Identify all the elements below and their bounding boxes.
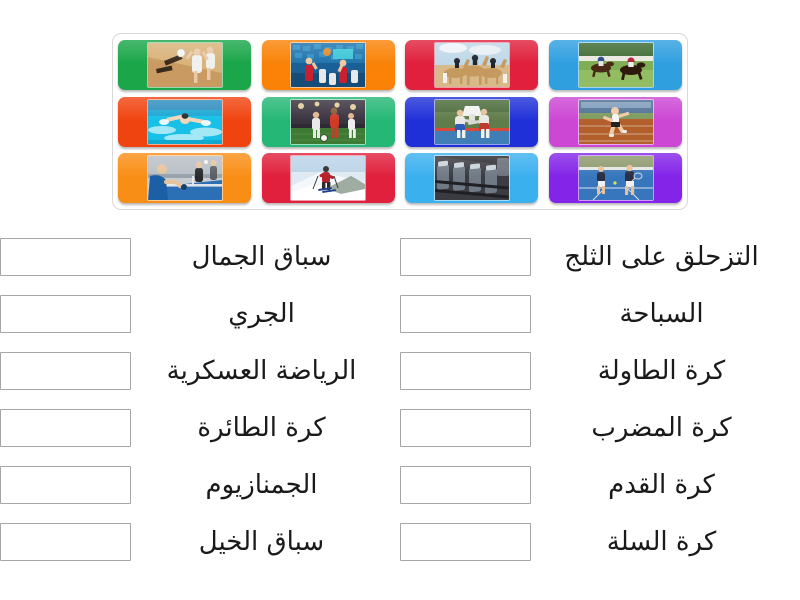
camel-racing-image bbox=[435, 43, 509, 87]
answer-rows: التزحلق على الثلج سباق الجمال السباحة ال… bbox=[0, 228, 800, 570]
draggable-tile-football[interactable] bbox=[262, 97, 395, 147]
answer-pair-left-6: سباق الخيل bbox=[0, 513, 400, 570]
draggable-tile-camel-racing[interactable] bbox=[405, 40, 538, 90]
answer-pair-right-1: التزحلق على الثلج bbox=[400, 228, 800, 285]
volleyball-image bbox=[148, 43, 222, 87]
gym-image bbox=[435, 156, 509, 200]
draggable-tile-skiing[interactable] bbox=[262, 153, 395, 203]
draggable-tile-basketball[interactable] bbox=[262, 40, 395, 90]
answer-label-right-4: كرة المضرب bbox=[531, 413, 792, 443]
answer-pair-left-4: كرة الطائرة bbox=[0, 399, 400, 456]
tile-row-1 bbox=[118, 40, 682, 90]
draggable-tile-taekwondo[interactable] bbox=[405, 97, 538, 147]
answer-pair-right-3: كرة الطاولة bbox=[400, 342, 800, 399]
drop-zone-right-3[interactable] bbox=[400, 352, 531, 390]
answer-label-left-4: كرة الطائرة bbox=[131, 413, 392, 443]
drop-zone-right-2[interactable] bbox=[400, 295, 531, 333]
drop-zone-right-5[interactable] bbox=[400, 466, 531, 504]
answer-row-5: كرة القدم الجمنازيوم bbox=[0, 456, 800, 513]
drop-zone-left-3[interactable] bbox=[0, 352, 131, 390]
draggable-tile-tennis[interactable] bbox=[549, 153, 682, 203]
skiing-image bbox=[291, 156, 365, 200]
answer-label-right-3: كرة الطاولة bbox=[531, 356, 792, 386]
draggable-tile-swimming[interactable] bbox=[118, 97, 251, 147]
answer-label-left-3: الرياضة العسكرية bbox=[131, 356, 392, 386]
drop-zone-left-4[interactable] bbox=[0, 409, 131, 447]
swimming-image bbox=[148, 100, 222, 144]
table-tennis-image bbox=[148, 156, 222, 200]
answer-label-right-2: السباحة bbox=[531, 299, 792, 329]
answer-label-left-6: سباق الخيل bbox=[131, 527, 392, 557]
draggable-tile-running[interactable] bbox=[549, 97, 682, 147]
tile-row-2 bbox=[118, 97, 682, 147]
answer-label-left-2: الجري bbox=[131, 299, 392, 329]
answer-pair-right-4: كرة المضرب bbox=[400, 399, 800, 456]
taekwondo-image bbox=[435, 100, 509, 144]
answer-pair-right-6: كرة السلة bbox=[400, 513, 800, 570]
answer-label-right-6: كرة السلة bbox=[531, 527, 792, 557]
draggable-tile-gym[interactable] bbox=[405, 153, 538, 203]
running-image bbox=[579, 100, 653, 144]
answer-label-left-5: الجمنازيوم bbox=[131, 470, 392, 500]
horse-racing-image bbox=[579, 43, 653, 87]
drop-zone-right-6[interactable] bbox=[400, 523, 531, 561]
draggable-tile-table-tennis[interactable] bbox=[118, 153, 251, 203]
basketball-image bbox=[291, 43, 365, 87]
tile-row-3 bbox=[118, 153, 682, 203]
answer-pair-right-5: كرة القدم bbox=[400, 456, 800, 513]
answer-row-2: السباحة الجري bbox=[0, 285, 800, 342]
answer-label-left-1: سباق الجمال bbox=[131, 242, 392, 272]
answer-pair-left-1: سباق الجمال bbox=[0, 228, 400, 285]
tennis-image bbox=[579, 156, 653, 200]
answer-pair-right-2: السباحة bbox=[400, 285, 800, 342]
draggable-tile-horse-racing[interactable] bbox=[549, 40, 682, 90]
drop-zone-right-4[interactable] bbox=[400, 409, 531, 447]
answer-row-4: كرة المضرب كرة الطائرة bbox=[0, 399, 800, 456]
answer-label-right-5: كرة القدم bbox=[531, 470, 792, 500]
answer-pair-left-2: الجري bbox=[0, 285, 400, 342]
drop-zone-left-6[interactable] bbox=[0, 523, 131, 561]
answer-row-3: كرة الطاولة الرياضة العسكرية bbox=[0, 342, 800, 399]
drop-zone-right-1[interactable] bbox=[400, 238, 531, 276]
answer-pair-left-3: الرياضة العسكرية bbox=[0, 342, 400, 399]
football-image bbox=[291, 100, 365, 144]
drop-zone-left-5[interactable] bbox=[0, 466, 131, 504]
answer-row-1: التزحلق على الثلج سباق الجمال bbox=[0, 228, 800, 285]
draggable-tile-volleyball[interactable] bbox=[118, 40, 251, 90]
image-tile-pool bbox=[112, 33, 688, 210]
answer-pair-left-5: الجمنازيوم bbox=[0, 456, 400, 513]
drop-zone-left-2[interactable] bbox=[0, 295, 131, 333]
answer-label-right-1: التزحلق على الثلج bbox=[531, 242, 792, 272]
answer-row-6: كرة السلة سباق الخيل bbox=[0, 513, 800, 570]
drop-zone-left-1[interactable] bbox=[0, 238, 131, 276]
